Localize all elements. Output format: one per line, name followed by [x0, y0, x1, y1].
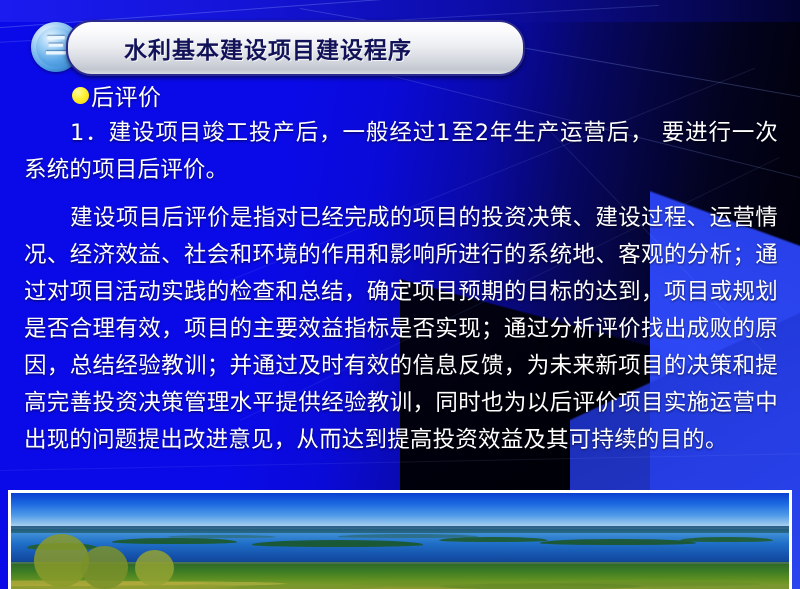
section-bullet-heading: 后评价: [72, 78, 800, 112]
body-paragraph-2: 建设项目后评价是指对已经完成的项目的投资决策、建设过程、运营情况、经济效益、社会…: [24, 200, 778, 459]
yellow-dot-bullet-icon: [72, 87, 89, 104]
photo-island: [252, 540, 423, 547]
photo-island: [540, 539, 696, 545]
section-bullet-label: 后评价: [91, 78, 162, 112]
reservoir-landscape-photo: [8, 490, 792, 589]
body-paragraph-1: 1．建设项目竣工投产后，一般经过1至2年生产运营后， 要进行一次系统的项目后评价…: [24, 115, 778, 189]
slide-header: 三 水利基本建设项目建设程序: [0, 18, 800, 74]
photo-foreground-texture: [11, 570, 789, 589]
slide-title-pill: 水利基本建设项目建设程序: [66, 20, 525, 76]
photo-content: [11, 493, 789, 589]
page-title: 水利基本建设项目建设程序: [124, 31, 412, 65]
photo-sky: [11, 493, 789, 529]
slide-canvas: 三 水利基本建设项目建设程序 后评价 1．建设项目竣工投产后，一般经过1至2年生…: [0, 0, 800, 589]
photo-bush: [34, 534, 88, 587]
photo-island: [112, 538, 236, 544]
photo-bush: [81, 546, 128, 589]
slide-content: 后评价 1．建设项目竣工投产后，一般经过1至2年生产运营后， 要进行一次系统的项…: [0, 78, 800, 459]
photo-island: [680, 537, 773, 542]
